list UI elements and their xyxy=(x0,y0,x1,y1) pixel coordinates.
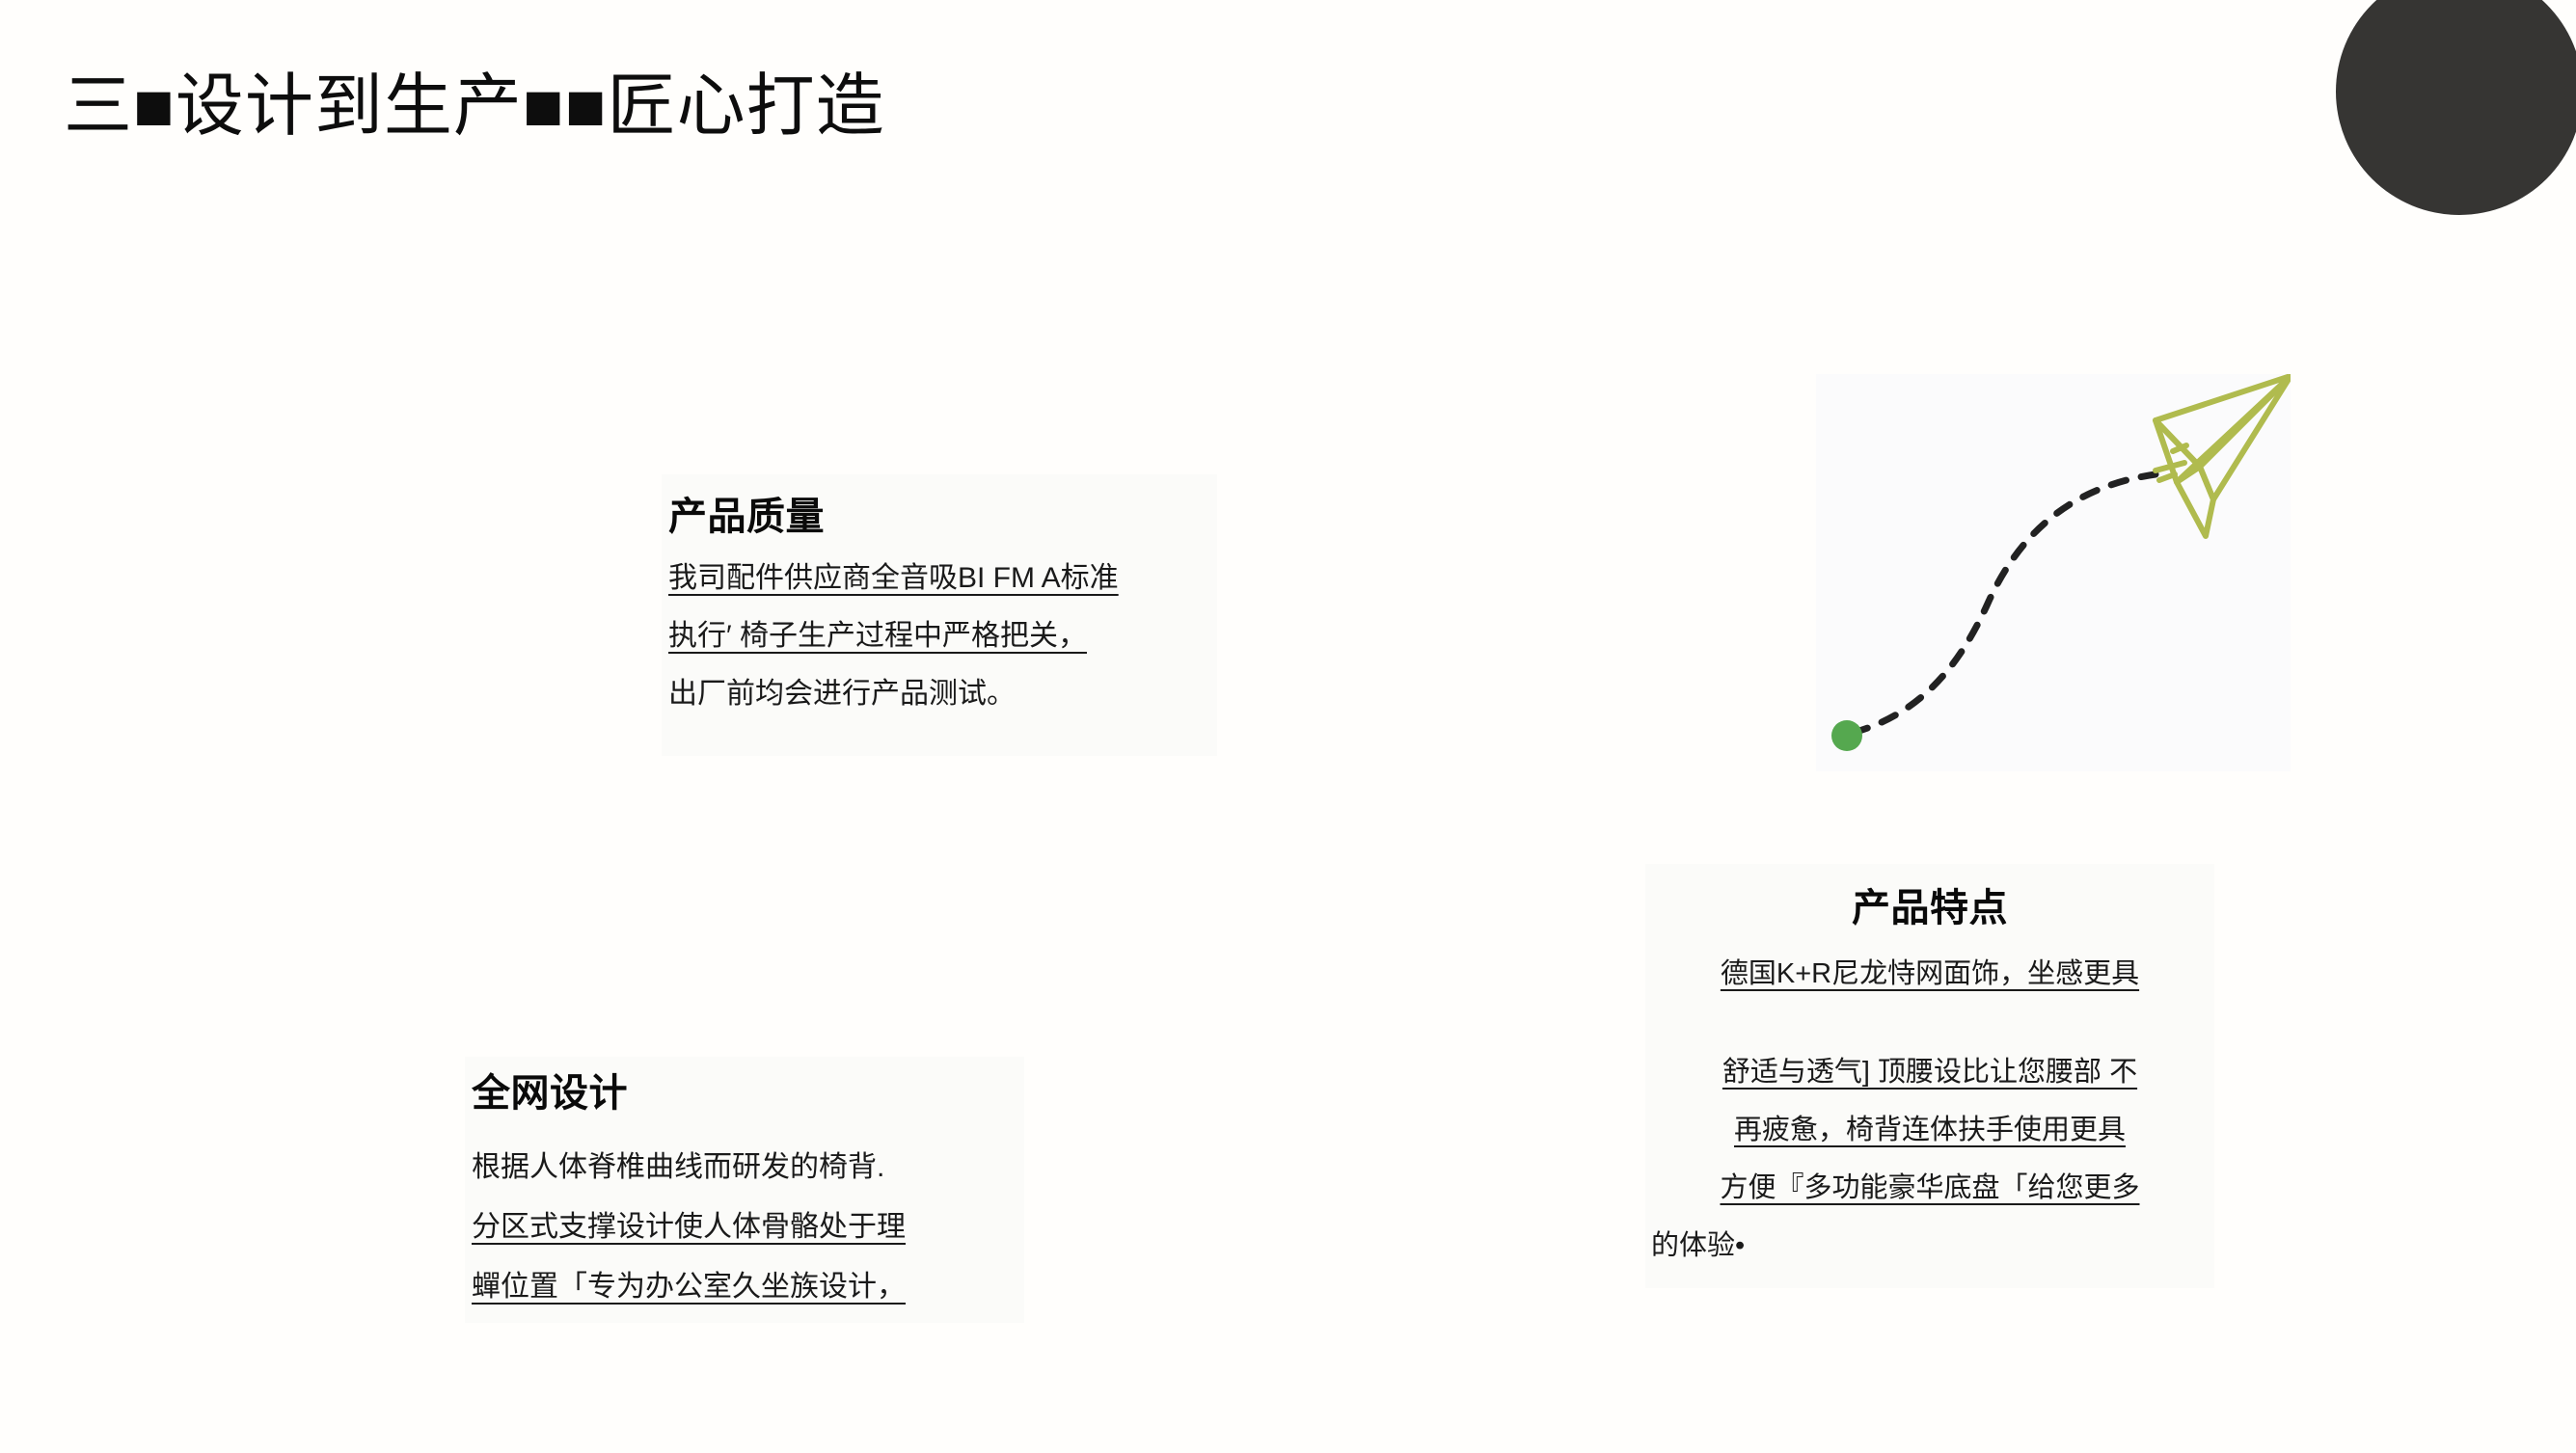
block-body-features: 德国K+R尼龙恃网面饰，坐感更具 舒适与透气] 顶腰设比让您腰部 不 再疲惫，椅… xyxy=(1645,945,2214,1275)
paper-plane-icon xyxy=(2156,376,2291,536)
body-line: 执行′ 椅子生产过程中严格把关， xyxy=(668,607,1217,665)
body-line: 蟬位置「专为办公室久坐族设计， xyxy=(472,1257,1024,1317)
body-line: 我司配件供应商全音吸BI FM A标准 xyxy=(668,550,1217,607)
text-block-features: 产品特点 德国K+R尼龙恃网面饰，坐感更具 舒适与透气] 顶腰设比让您腰部 不 … xyxy=(1645,864,2214,1288)
body-line: 德国K+R尼龙恃网面饰，坐感更具 xyxy=(1645,945,2214,1003)
block-body-quality: 我司配件供应商全音吸BI FM A标准 执行′ 椅子生产过程中严格把关， 出厂前… xyxy=(668,550,1217,723)
dark-circle-decoration xyxy=(2336,0,2576,215)
page-title: 三■设计到生产■■匠心打造 xyxy=(64,69,885,147)
block-heading-design: 全网设计 xyxy=(472,1074,1024,1113)
body-line: 出厂前均会进行产品测试。 xyxy=(668,665,1217,723)
body-line: 分区式支撑设计使人体骨骼处于理 xyxy=(472,1197,1024,1257)
body-line: 的体验• xyxy=(1645,1217,2214,1275)
flight-trail-path xyxy=(1853,474,2156,733)
text-block-quality: 产品质量 我司配件供应商全音吸BI FM A标准 执行′ 椅子生产过程中严格把关… xyxy=(662,474,1217,756)
body-line: 根据人体脊椎曲线而研发的椅背. xyxy=(472,1138,1024,1197)
origin-dot-icon xyxy=(1831,720,1862,751)
body-line: 再疲惫，椅背连体扶手使用更具 xyxy=(1645,1101,2214,1159)
body-line: 舒适与透气] 顶腰设比让您腰部 不 xyxy=(1645,1043,2214,1101)
paper-plane-illustration xyxy=(1816,374,2291,771)
block-heading-quality: 产品质量 xyxy=(668,498,1217,536)
block-body-design: 根据人体脊椎曲线而研发的椅背. 分区式支撑设计使人体骨骼处于理 蟬位置「专为办公… xyxy=(472,1138,1024,1317)
text-block-design: 全网设计 根据人体脊椎曲线而研发的椅背. 分区式支撑设计使人体骨骼处于理 蟬位置… xyxy=(465,1057,1024,1323)
body-line: 方便『多功能豪华底盘「给您更多 xyxy=(1645,1159,2214,1217)
block-heading-features: 产品特点 xyxy=(1645,889,2214,928)
